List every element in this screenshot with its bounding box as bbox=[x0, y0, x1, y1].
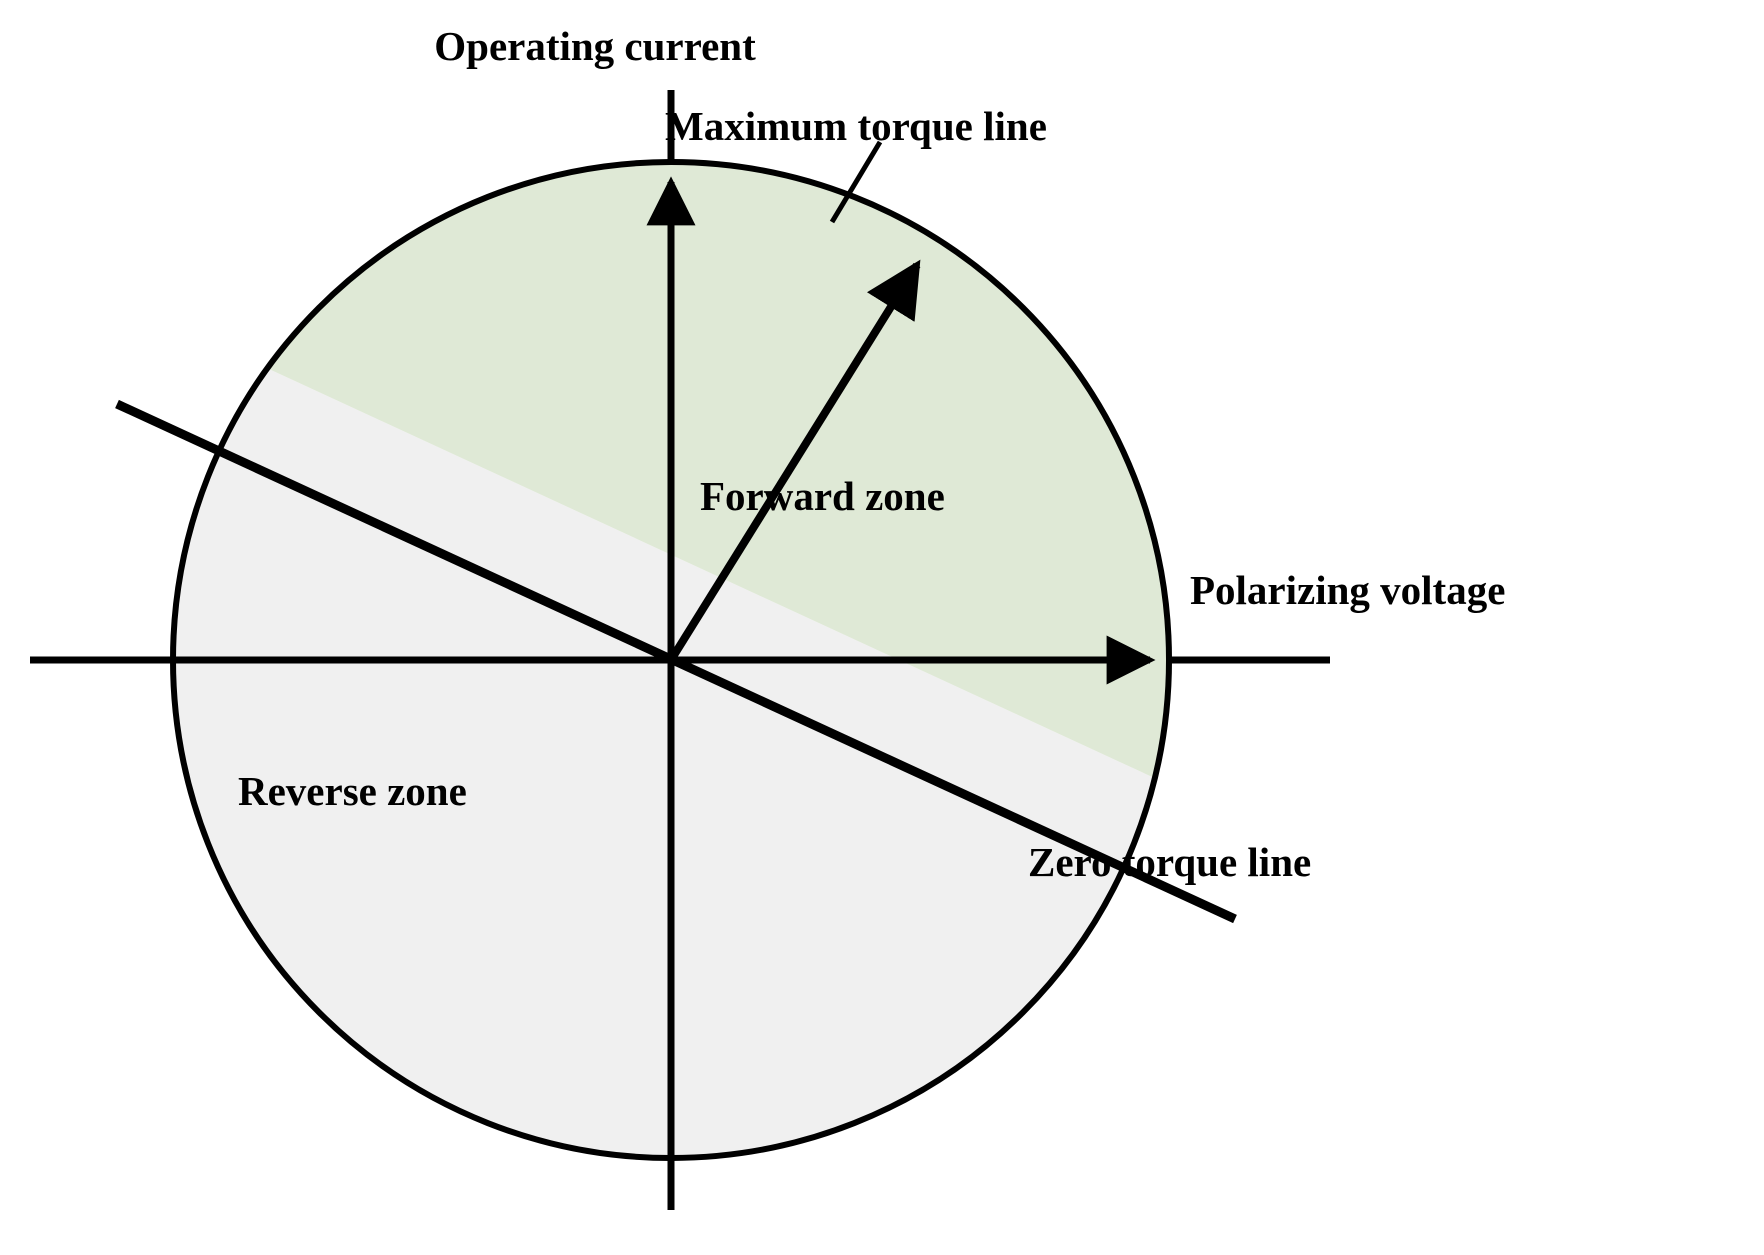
y-axis-label: Operating current bbox=[434, 23, 756, 69]
forward-zone-label: Forward zone bbox=[700, 473, 945, 519]
zero-torque-line-label: Zero torque line bbox=[1028, 839, 1311, 885]
reverse-zone-label: Reverse zone bbox=[238, 768, 467, 814]
maximum-torque-line-label: Maximum torque line bbox=[665, 103, 1047, 149]
operating-characteristic-diagram: Operating current Polarizing voltage Max… bbox=[0, 0, 1764, 1255]
x-axis-label: Polarizing voltage bbox=[1190, 567, 1505, 613]
diagram-canvas: Operating current Polarizing voltage Max… bbox=[0, 0, 1764, 1255]
